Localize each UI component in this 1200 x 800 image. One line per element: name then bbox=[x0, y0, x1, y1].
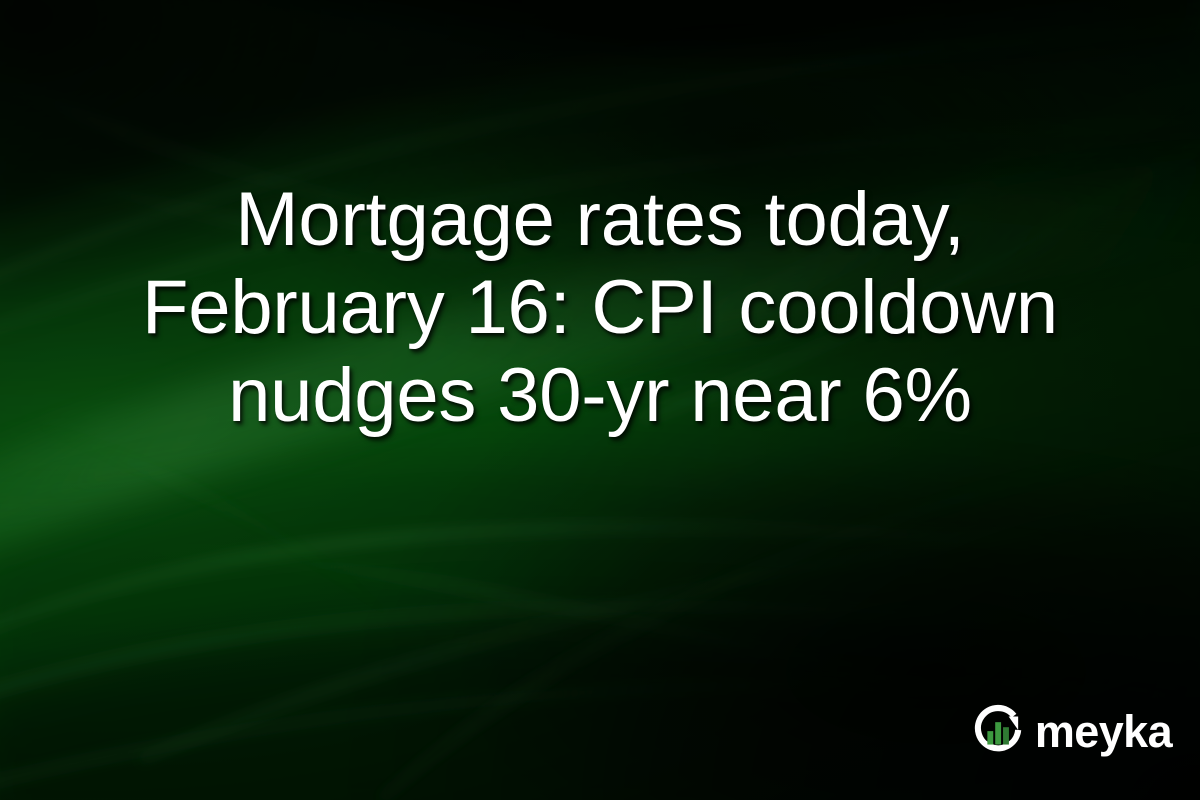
brand-wordmark: meyka bbox=[1035, 709, 1172, 754]
headline-block: Mortgage rates today, February 16: CPI c… bbox=[0, 176, 1200, 440]
brand-logo[interactable]: meyka bbox=[970, 702, 1172, 758]
article-share-card: Mortgage rates today, February 16: CPI c… bbox=[0, 0, 1200, 800]
meyka-circular-bar-chart-icon bbox=[970, 702, 1026, 758]
page-title: Mortgage rates today, February 16: CPI c… bbox=[56, 176, 1144, 440]
